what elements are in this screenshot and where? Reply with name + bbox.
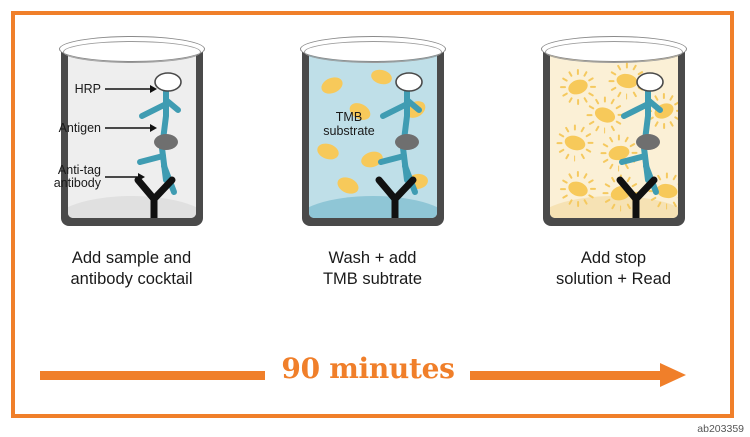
sunburst-ray [568,173,573,179]
step-1-well-column: HRPAntigenAnti-tagantibody [39,28,224,233]
tmb-substrate-blob [335,174,361,197]
label-arrow-icon [105,83,159,95]
sunburst-ray [594,125,599,131]
sunburst-ray [588,105,594,110]
detection-antibody-arm-lower-left [381,156,404,162]
molecule-wrapper [608,70,678,218]
sunburst-ray [587,142,593,144]
sunburst-ray [586,114,592,116]
sunburst-ray [588,77,594,82]
wells-row: HRPAntigenAnti-tagantibodyTMBsubstrate [11,28,734,233]
timeline-duration-label: 90 minutes [272,352,464,385]
antigen-marker [636,134,660,150]
tmb-substrate-label: TMBsubstrate [317,110,381,138]
tmb-substrate-blob [315,141,341,162]
tmb-substrate-blob [319,74,345,96]
timeline: 90 minutes [40,352,700,398]
annotation-label-anti-tag-antibody: Anti-tagantibody [39,164,101,190]
molecule-complex [367,70,437,218]
sunburst-ray [583,173,588,179]
molecule-complex [608,70,678,218]
step-2-caption: Wash + addTMB subtrate [273,248,473,290]
sunburst-ray [580,127,585,133]
tmb-substrate-label-line2: substrate [317,124,381,138]
annotation-label-line2: antibody [39,177,101,190]
detection-antibody-arm-upper-left [383,104,407,116]
well-rim-inner [304,41,442,63]
sunburst-ray [626,63,628,69]
label-arrow-icon [105,171,147,183]
well-interior [550,52,678,218]
sunburst-ray [577,171,579,177]
detection-antibody-arm-lower-left [622,156,645,162]
sunburst-ray [562,92,568,97]
step-2-caption-line1: Wash + add [273,248,473,269]
sunburst-ray [568,97,573,103]
detection-antibody-arm-upper-left [624,104,648,116]
sunburst-ray [600,152,606,154]
well-interior [68,52,196,218]
detection-antibody-arm-upper-left [142,104,166,116]
product-core [562,133,586,152]
anti-tag-antibody-arm-left [620,180,636,199]
label-arrow-icon [105,122,159,134]
step-1-caption-line2: antibody cocktail [32,269,232,290]
well-interior: TMBsubstrate [309,52,437,218]
step-3-well [543,36,685,226]
sunburst-ray [583,71,588,77]
anti-tag-antibody-arm-right [395,180,413,199]
captions-row: Add sample andantibody cocktailWash + ad… [11,248,734,290]
sunburst-ray [562,179,568,184]
product-sunburst [560,72,596,102]
timeline-arrowhead-icon [660,363,686,387]
sunburst-ray [568,71,573,77]
sunburst-ray [590,86,596,88]
sunburst-ray [604,97,606,103]
sunburst-ray [588,179,594,184]
step-3-well-column [521,28,706,233]
well-rim-inner [545,41,683,63]
sunburst-ray [594,99,599,105]
sunburst-ray [558,148,564,153]
sunburst-ray [562,77,568,82]
step-3-caption: Add stopsolution + Read [514,248,714,290]
step-3-caption-line2: solution + Read [514,269,714,290]
sunburst-ray [588,120,594,125]
sunburst-ray [585,148,591,153]
sunburst-ray [556,142,562,144]
sunburst-ray [577,69,579,75]
step-3-caption-line1: Add stop [514,248,714,269]
watermark-code: ab203359 [697,423,744,435]
anti-tag-antibody-arm-right [636,180,654,199]
hrp-enzyme-marker [637,73,663,91]
step-1-caption-line1: Add sample and [32,248,232,269]
product-sunburst [556,128,593,158]
sunburst-ray [560,86,566,88]
product-core [566,77,590,97]
annotation-label-antigen: Antigen [41,122,101,135]
sunburst-ray [562,194,568,199]
annotation-label-hrp: HRP [57,83,101,96]
detection-antibody-arm-lower-left [140,156,163,162]
sunburst-ray [588,194,594,199]
sunburst-ray [558,133,564,138]
sunburst-ray [577,99,579,105]
sunburst-ray [580,153,585,159]
step-2-well: TMBsubstrate [302,36,444,226]
antigen-marker [395,134,419,150]
sunburst-ray [588,92,594,97]
step-2-well-column: TMBsubstrate [280,28,465,233]
timeline-bar-right [470,371,662,380]
well-rim-inner [63,41,201,63]
tmb-substrate-label-line1: TMB [317,110,381,124]
step-2-caption-line2: TMB subtrate [273,269,473,290]
sunburst-ray [574,156,576,162]
timeline-bar-left [40,371,265,380]
product-sunburst [560,174,596,204]
sunburst-ray [577,201,579,207]
step-1-caption: Add sample andantibody cocktail [32,248,232,290]
molecule-wrapper [367,70,437,218]
anti-tag-antibody-arm-right [154,180,172,199]
hrp-enzyme-marker [396,73,422,91]
elisa-workflow-figure: HRPAntigenAnti-tagantibodyTMBsubstrate A… [0,0,750,437]
sunburst-ray [590,188,596,190]
sunburst-ray [564,153,569,159]
anti-tag-antibody-arm-left [379,180,395,199]
sunburst-ray [560,188,566,190]
sunburst-ray [574,125,576,131]
product-core [566,179,590,199]
sunburst-ray [564,127,569,133]
sunburst-ray [585,133,591,138]
antigen-marker [154,134,178,150]
sunburst-ray [604,128,606,134]
